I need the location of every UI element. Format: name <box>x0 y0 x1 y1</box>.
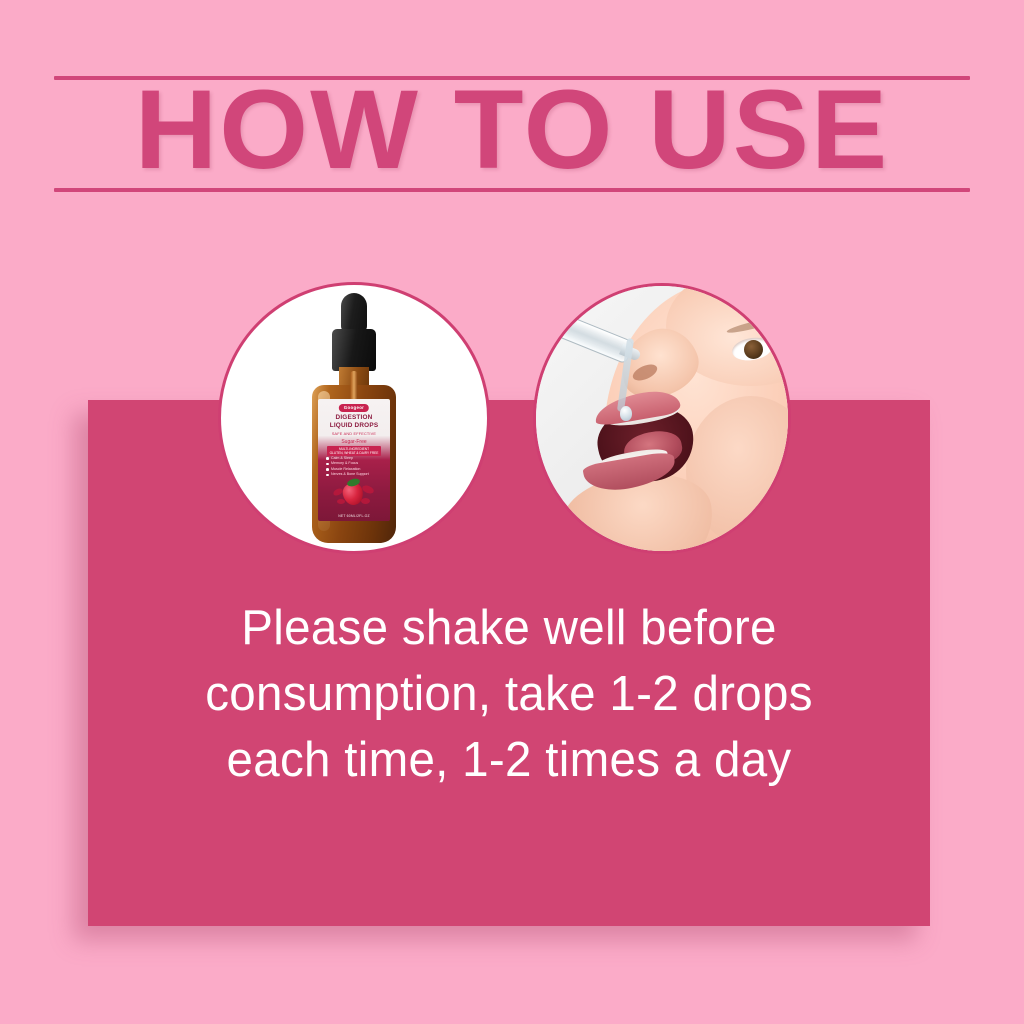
label-title-line2: LIQUID DROPS <box>318 422 390 429</box>
header-rule-bottom <box>54 188 970 192</box>
bottle-label: Googeor DIGESTION LIQUID DROPS SAFE AND … <box>318 399 390 521</box>
how-to-use-poster: HOW TO USE Googeor DIGESTION LIQUID DROP… <box>0 0 1024 1024</box>
label-tagline: SAFE AND EFFECTIVE <box>318 432 390 436</box>
label-net-content: NET 60ML/2FL.OZ <box>318 514 390 518</box>
dropper-tube <box>544 309 635 364</box>
label-ingredient-badge: MULTI-INGREDIENT GLUTEN, WHEAT & DAIRY F… <box>327 446 381 456</box>
dropper-bottle-illustration: Googeor DIGESTION LIQUID DROPS SAFE AND … <box>306 293 402 543</box>
page-title: HOW TO USE <box>0 74 1024 186</box>
instructions-text: Please shake well before consumption, ta… <box>101 595 918 793</box>
splash-shape <box>361 498 370 504</box>
dropper-bulb <box>341 293 367 333</box>
photo-backdrop <box>536 286 788 551</box>
splash-shape <box>361 484 375 495</box>
dropper-cap <box>332 329 376 371</box>
strawberry-icon <box>331 477 377 507</box>
instructions-line: each time, 1-2 times a day <box>101 727 918 793</box>
instructions-line: Please shake well before <box>101 595 918 661</box>
liquid-droplet <box>620 406 632 421</box>
product-bottle-photo: Googeor DIGESTION LIQUID DROPS SAFE AND … <box>218 282 490 554</box>
label-brand: Googeor <box>339 404 369 412</box>
woman-taking-drops-photo <box>533 283 791 554</box>
label-sugar-free: Sugar-Free <box>318 439 390 445</box>
poster-header: HOW TO USE <box>0 0 1024 210</box>
splash-shape <box>337 499 345 504</box>
label-title-line1: DIGESTION <box>318 414 390 421</box>
label-badge-line2: GLUTEN, WHEAT & DAIRY FREE <box>330 451 379 455</box>
instructions-line: consumption, take 1-2 drops <box>101 661 918 727</box>
iris-shape <box>744 340 763 359</box>
label-benefit-list: Calm & Sleep Memory & Focus Muscle Relax… <box>326 456 386 478</box>
